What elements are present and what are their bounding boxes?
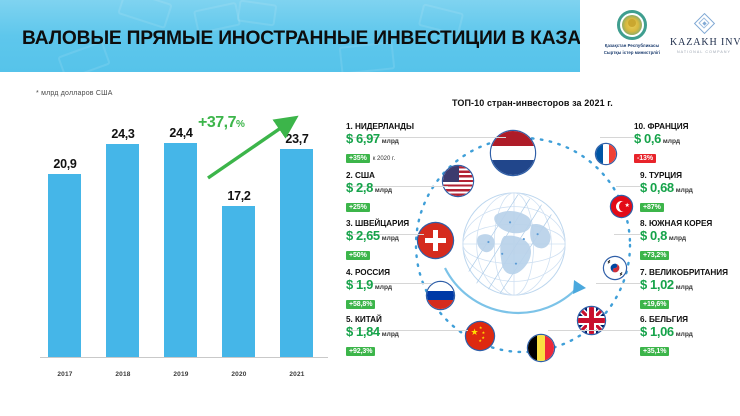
investor-name: 5. КИТАЙ xyxy=(346,315,446,324)
china-star-icon: ★ xyxy=(470,328,478,337)
status-badge: +25% xyxy=(346,203,370,213)
connector-line xyxy=(600,137,634,138)
investor-unit: млрд xyxy=(663,138,680,145)
investor-name: 10. ФРАНЦИЯ xyxy=(634,122,734,131)
header-banner: ВАЛОВЫЕ ПРЯМЫЕ ИНОСТРАННЫЕ ИНВЕСТИЦИИ В … xyxy=(0,0,580,72)
status-badge: +73,2% xyxy=(640,251,669,261)
banknote-watermark xyxy=(237,0,278,27)
investor-name: 9. ТУРЦИЯ xyxy=(640,171,740,180)
investor-value: $ 6,97млрд xyxy=(346,132,446,147)
investor-unit: млрд xyxy=(676,187,693,194)
investor-name: 1. НИДЕРЛАНДЫ xyxy=(346,122,446,131)
investor-amount: $ 0,68 xyxy=(640,180,674,195)
chart-baseline xyxy=(40,357,328,358)
investor-change-row: +73,2% xyxy=(640,244,738,262)
investor-unit: млрд xyxy=(676,331,693,338)
connector-line xyxy=(614,234,640,235)
banknote-watermark xyxy=(117,0,173,29)
investor-value: $ 1,9млрд xyxy=(346,278,446,293)
investor-entry-8: 8. ЮЖНАЯ КОРЕЯ $ 0,8млрд +73,2% xyxy=(640,219,738,262)
diamond-icon xyxy=(693,12,715,34)
status-badge: -13% xyxy=(634,154,656,164)
connector-line xyxy=(616,186,640,187)
investor-amount: $ 0,8 xyxy=(640,228,667,243)
bar-2020 xyxy=(222,206,255,357)
investor-entry-3: 3. ШВЕЙЦАРИЯ $ 2,65млрд +50% xyxy=(346,219,446,262)
status-badge: +19,6% xyxy=(640,300,669,310)
growth-percent-value: +37,7 xyxy=(198,114,236,131)
investor-amount: $ 0,6 xyxy=(634,131,661,146)
growth-percent-label: +37,7% xyxy=(198,114,244,132)
page-title: ВАЛОВЫЕ ПРЯМЫЕ ИНОСТРАННЫЕ ИНВЕСТИЦИИ В … xyxy=(22,27,580,50)
investor-amount: $ 6,97 xyxy=(346,131,380,146)
investor-change-row: +35%к 2020 г. xyxy=(346,147,446,165)
axis-label-2021: 2021 xyxy=(269,371,325,378)
investor-change-row: -13% xyxy=(634,147,734,165)
chart-units-note: * млрд долларов США xyxy=(36,90,113,97)
investor-entry-7: 7. ВЕЛИКОБРИТАНИЯ $ 1,02млрд +19,6% xyxy=(640,268,740,311)
investor-amount: $ 1,02 xyxy=(640,277,674,292)
investor-amount: $ 2,8 xyxy=(346,180,373,195)
kazakh-invest-subtitle: NATIONAL COMPANY xyxy=(670,50,738,54)
investor-name: 6. БЕЛЬГИЯ xyxy=(640,315,740,324)
bar-2019 xyxy=(164,143,197,357)
investor-unit: млрд xyxy=(375,284,392,291)
mfa-logo-line2: Сыртқы істер министрлігі xyxy=(596,50,668,57)
investor-name: 4. РОССИЯ xyxy=(346,268,446,277)
turkey-flag: ★ xyxy=(611,196,632,217)
bar-2018 xyxy=(106,144,139,357)
investor-value: $ 1,84млрд xyxy=(346,325,446,340)
investor-unit: млрд xyxy=(375,187,392,194)
investor-entry-2: 2. США $ 2,8млрд +25% xyxy=(346,171,446,214)
connector-line xyxy=(548,330,640,331)
bar-2017 xyxy=(48,174,81,357)
investor-name: 8. ЮЖНАЯ КОРЕЯ xyxy=(640,219,738,228)
logo-group: Қазақстан Республикасы Сыртқы істер мини… xyxy=(584,8,740,68)
investor-entry-9: 9. ТУРЦИЯ $ 0,68млрд +87% xyxy=(640,171,740,214)
investor-amount: $ 1,84 xyxy=(346,324,380,339)
investor-name: 7. ВЕЛИКОБРИТАНИЯ xyxy=(640,268,740,277)
bar-chart: 20,9 24,3 24,4 17,2 23,7 2017 2018 2019 … xyxy=(30,110,330,380)
status-badge: +87% xyxy=(640,203,664,213)
belgium-flag xyxy=(528,335,554,361)
mfa-logo-text: Қазақстан Республикасы Сыртқы істер мини… xyxy=(596,43,668,56)
status-badge: +50% xyxy=(346,251,370,261)
status-badge: +35% xyxy=(346,154,370,164)
south-korea-flag xyxy=(604,257,626,279)
growth-percent-sign: % xyxy=(236,119,244,130)
usa-flag xyxy=(443,166,473,196)
investor-unit: млрд xyxy=(382,235,399,242)
investor-value: $ 2,8млрд xyxy=(346,181,446,196)
investor-change-row: +25% xyxy=(346,196,446,214)
investor-unit: млрд xyxy=(382,138,399,145)
investor-entry-5: 5. КИТАЙ $ 1,84млрд +92,3% xyxy=(346,315,446,358)
bar-2021 xyxy=(280,149,313,357)
bar-value-2020: 17,2 xyxy=(211,189,267,203)
investor-amount: $ 1,06 xyxy=(640,324,674,339)
investor-value: $ 0,6млрд xyxy=(634,132,734,147)
investor-value: $ 2,65млрд xyxy=(346,229,446,244)
investor-entry-1: 1. НИДЕРЛАНДЫ $ 6,97млрд +35%к 2020 г. xyxy=(346,122,446,165)
investor-amount: $ 1,9 xyxy=(346,277,373,292)
bar-value-2018: 24,3 xyxy=(95,127,151,141)
panel-title: ТОП-10 стран-инвесторов за 2021 г. xyxy=(452,98,613,108)
axis-label-2019: 2019 xyxy=(153,371,209,378)
bar-value-2021: 23,7 xyxy=(269,132,325,146)
status-badge: +58,8% xyxy=(346,300,375,310)
investor-entry-4: 4. РОССИЯ $ 1,9млрд +58,8% xyxy=(346,268,446,311)
investor-name: 2. США xyxy=(346,171,446,180)
investor-unit: млрд xyxy=(669,235,686,242)
investor-entry-6: 6. БЕЛЬГИЯ $ 1,06млрд +35,1% xyxy=(640,315,740,358)
investor-change-row: +92,3% xyxy=(346,340,446,358)
axis-label-2020: 2020 xyxy=(211,371,267,378)
status-badge: +35,1% xyxy=(640,347,669,357)
investor-value: $ 1,06млрд xyxy=(640,325,740,340)
china-flag: ★ ★ ★ ★ ★ xyxy=(466,322,494,350)
investor-change-row: +19,6% xyxy=(640,293,740,311)
status-badge: +92,3% xyxy=(346,347,375,357)
globe-icon xyxy=(455,185,573,303)
investor-entry-10: 10. ФРАНЦИЯ $ 0,6млрд -13% xyxy=(634,122,734,165)
france-flag xyxy=(596,144,616,164)
investor-change-row: +35,1% xyxy=(640,340,740,358)
axis-label-2018: 2018 xyxy=(95,371,151,378)
investor-amount: $ 2,65 xyxy=(346,228,380,243)
investor-change-row: +58,8% xyxy=(346,293,446,311)
investor-value: $ 0,68млрд xyxy=(640,181,740,196)
bar-value-2017: 20,9 xyxy=(37,157,93,171)
kazakh-invest-name: KAZAKH INVEST xyxy=(670,37,738,48)
turkey-star-icon: ★ xyxy=(624,203,629,209)
china-star-icon: ★ xyxy=(478,339,482,343)
investor-change-suffix: к 2020 г. xyxy=(373,156,395,162)
infographic-root: ВАЛОВЫЕ ПРЯМЫЕ ИНОСТРАННЫЕ ИНВЕСТИЦИИ В … xyxy=(0,0,740,416)
kazakh-invest-logo: KAZAKH INVEST NATIONAL COMPANY xyxy=(670,12,738,54)
investor-change-row: +50% xyxy=(346,244,446,262)
investor-unit: млрд xyxy=(676,284,693,291)
investor-value: $ 0,8млрд xyxy=(640,229,738,244)
investor-name: 3. ШВЕЙЦАРИЯ xyxy=(346,219,446,228)
axis-label-2017: 2017 xyxy=(37,371,93,378)
investor-change-row: +87% xyxy=(640,196,740,214)
investor-value: $ 1,02млрд xyxy=(640,278,740,293)
mfa-logo: Қазақстан Республикасы Сыртқы істер мини… xyxy=(596,10,668,56)
mfa-logo-line1: Қазақстан Республикасы xyxy=(596,43,668,50)
investor-unit: млрд xyxy=(382,331,399,338)
connector-line xyxy=(596,283,640,284)
kazakhstan-emblem-icon xyxy=(617,10,647,40)
